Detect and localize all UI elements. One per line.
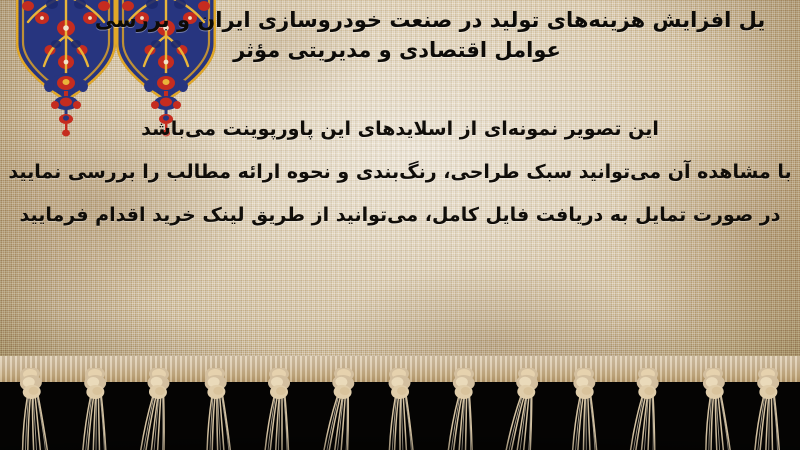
slide-body-line-1: این تصویر نمونه‌ای از اسلایدهای این پاور… [0, 108, 800, 151]
fringe-tassel [501, 368, 555, 450]
fringe-tassel [3, 368, 57, 450]
fringe-tassel [132, 368, 186, 450]
fringe-tassel [68, 368, 122, 450]
slide-title-line-2: عوامل اقتصادی و مدیریتی مؤثر [2, 36, 792, 66]
fringe-tassel [557, 368, 611, 450]
slide-body-line-3: در صورت تمایل به دریافت فایل کامل، می‌تو… [0, 194, 800, 237]
fringe-tassel [621, 368, 675, 450]
fringe-tassel [686, 368, 740, 450]
slide-body-line-2: با مشاهده آن می‌توانید سبک طراحی، رنگ‌بن… [0, 151, 800, 194]
slide-title: یل افزایش هزینه‌های تولید در صنعت خودروس… [2, 6, 792, 66]
fringe-tassel [437, 368, 491, 450]
slide-body-text: این تصویر نمونه‌ای از اسلایدهای این پاور… [0, 108, 800, 237]
carpet-fringe-tassels [0, 356, 800, 450]
fringe-tassel [741, 368, 795, 450]
fringe-tassel [188, 368, 242, 450]
fringe-tassel [317, 368, 371, 450]
slide-title-line-1: یل افزایش هزینه‌های تولید در صنعت خودروس… [2, 6, 800, 36]
fringe-tassel [372, 368, 426, 450]
fringe-tassel [252, 368, 306, 450]
slide-canvas: یل افزایش هزینه‌های تولید در صنعت خودروس… [0, 0, 800, 450]
